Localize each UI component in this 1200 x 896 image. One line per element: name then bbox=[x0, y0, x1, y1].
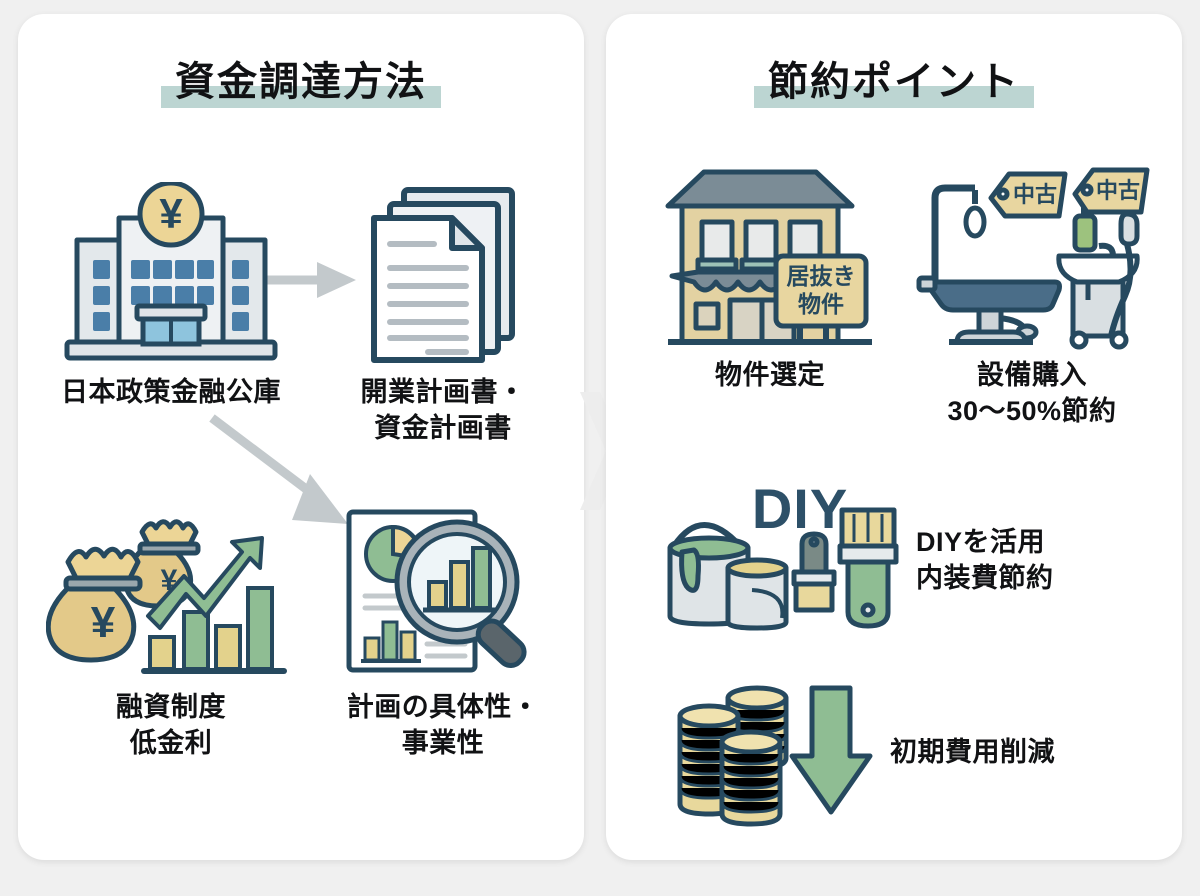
item-business-plan: 開業計画書・ 資金計画書 bbox=[300, 182, 586, 446]
caption-diy-interior: DIYを活用 内装費節約 bbox=[916, 525, 1054, 596]
caption-property-selection: 物件選定 bbox=[715, 358, 825, 394]
report-magnifier-icon bbox=[341, 504, 546, 682]
left-panel-title: 資金調達方法 bbox=[169, 62, 433, 102]
documents-stack-icon bbox=[348, 182, 538, 367]
caption-policy-finance: 日本政策金融公庫 bbox=[61, 375, 281, 411]
svg-text:DIY: DIY bbox=[752, 480, 848, 540]
panel-funding-methods: 資金調達方法 bbox=[18, 14, 584, 860]
right-panel-title: 節約ポイント bbox=[762, 62, 1026, 102]
infographic-canvas: 資金調達方法 bbox=[0, 0, 1200, 896]
svg-text:物件: 物件 bbox=[798, 291, 844, 317]
panel-saving-points: 節約ポイント bbox=[606, 14, 1182, 860]
item-policy-finance: ¥ 日本政策金融公庫 bbox=[26, 182, 316, 411]
svg-text:中古: 中古 bbox=[1013, 182, 1057, 207]
item-plan-concrete: 計画の具体性・ 事業性 bbox=[300, 504, 586, 761]
paint-diy-icon: DIY bbox=[652, 480, 900, 641]
item-loan-system: ¥ ¥ bbox=[26, 504, 316, 761]
bank-yen-icon: ¥ bbox=[61, 182, 281, 367]
coins-down-arrow-icon bbox=[666, 670, 874, 835]
caption-plan-concrete: 計画の具体性・ 事業性 bbox=[347, 690, 540, 761]
svg-text:¥: ¥ bbox=[159, 190, 183, 237]
used-equipment-icon: 中古 中古 bbox=[913, 160, 1151, 350]
left-panel-title-wrap: 資金調達方法 bbox=[18, 62, 584, 102]
caption-business-plan: 開業計画書・ 資金計画書 bbox=[361, 375, 526, 446]
item-initial-cost-cut: 初期費用削減 bbox=[666, 670, 1186, 835]
money-bags-growth-icon: ¥ ¥ bbox=[46, 504, 296, 682]
item-property-selection: 居抜き 物件 物件選定 bbox=[630, 160, 910, 394]
right-panel-title-wrap: 節約ポイント bbox=[606, 62, 1182, 102]
item-equipment-purchase: 中古 中古 設備購入 30〜50%節約 bbox=[892, 160, 1172, 429]
svg-text:¥: ¥ bbox=[91, 598, 116, 647]
item-diy-interior: DIY bbox=[652, 480, 1172, 641]
caption-initial-cost-cut: 初期費用削減 bbox=[890, 735, 1055, 771]
caption-loan-system: 融資制度 低金利 bbox=[116, 690, 226, 761]
svg-text:居抜き: 居抜き bbox=[787, 263, 856, 289]
svg-text:中古: 中古 bbox=[1096, 178, 1140, 203]
caption-equipment-purchase: 設備購入 30〜50%節約 bbox=[947, 358, 1116, 429]
shop-building-icon: 居抜き 物件 bbox=[654, 160, 886, 350]
